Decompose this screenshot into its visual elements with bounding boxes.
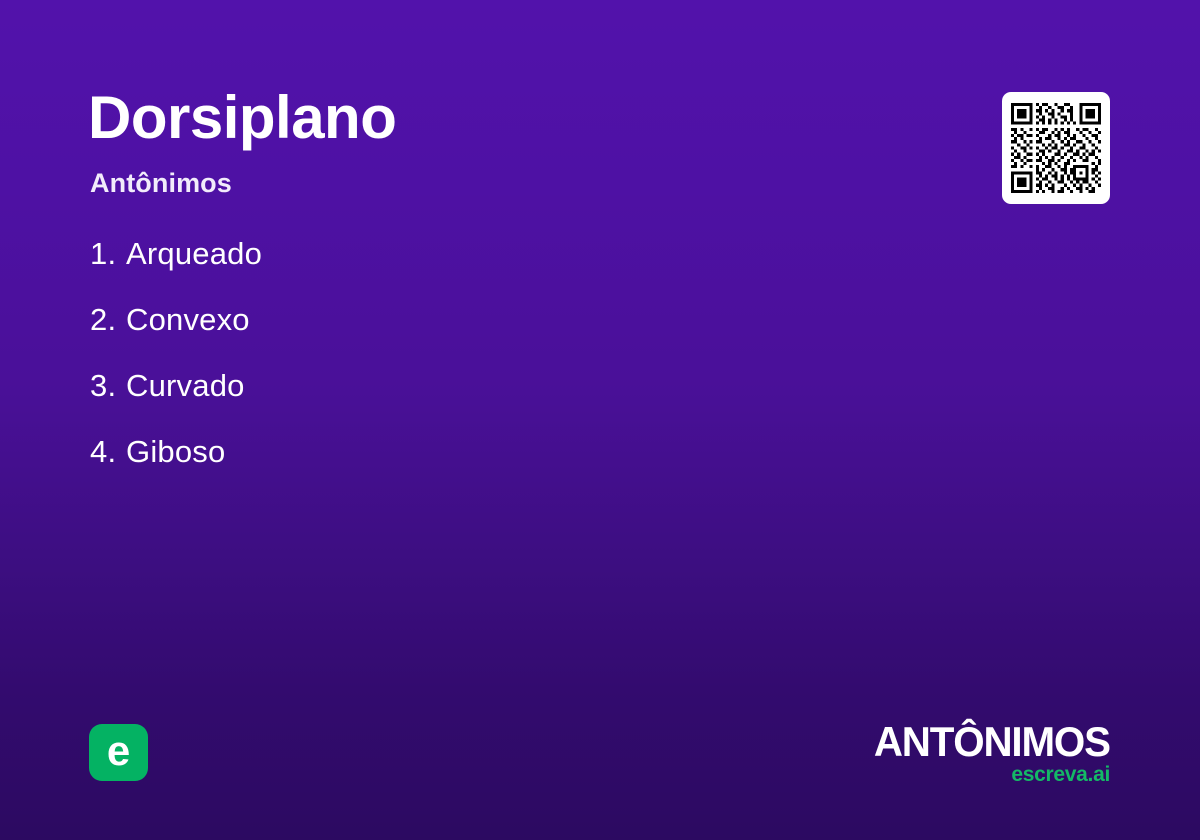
brand-lockup: ANTÔNIMOS escreva.ai <box>864 722 1110 785</box>
escreva-logo-badge[interactable]: e <box>89 724 148 781</box>
brand-name: ANTÔNIMOS <box>874 722 1110 762</box>
escreva-logo-letter: e <box>107 730 130 772</box>
list-item: 4. Giboso <box>90 434 850 500</box>
list-item-index: 4. <box>90 434 126 470</box>
qr-code-icon[interactable] <box>1002 92 1110 204</box>
list-item-index: 2. <box>90 302 126 338</box>
list-item-index: 3. <box>90 368 126 404</box>
page-title: Dorsiplano <box>88 86 396 149</box>
brand-domain: escreva.ai <box>864 764 1110 785</box>
list-item: 3. Curvado <box>90 368 850 434</box>
list-item: 2. Convexo <box>90 302 850 368</box>
antonyms-word-card: Dorsiplano Antônimos 1. Arqueado 2. Conv… <box>0 0 1200 840</box>
list-item-label: Curvado <box>126 368 245 404</box>
list-item-label: Giboso <box>126 434 225 470</box>
list-item-index: 1. <box>90 236 126 272</box>
list-item: 1. Arqueado <box>90 236 850 302</box>
antonym-list: 1. Arqueado 2. Convexo 3. Curvado 4. Gib… <box>90 236 850 500</box>
page-subtitle: Antônimos <box>90 168 232 199</box>
list-item-label: Arqueado <box>126 236 262 272</box>
list-item-label: Convexo <box>126 302 250 338</box>
